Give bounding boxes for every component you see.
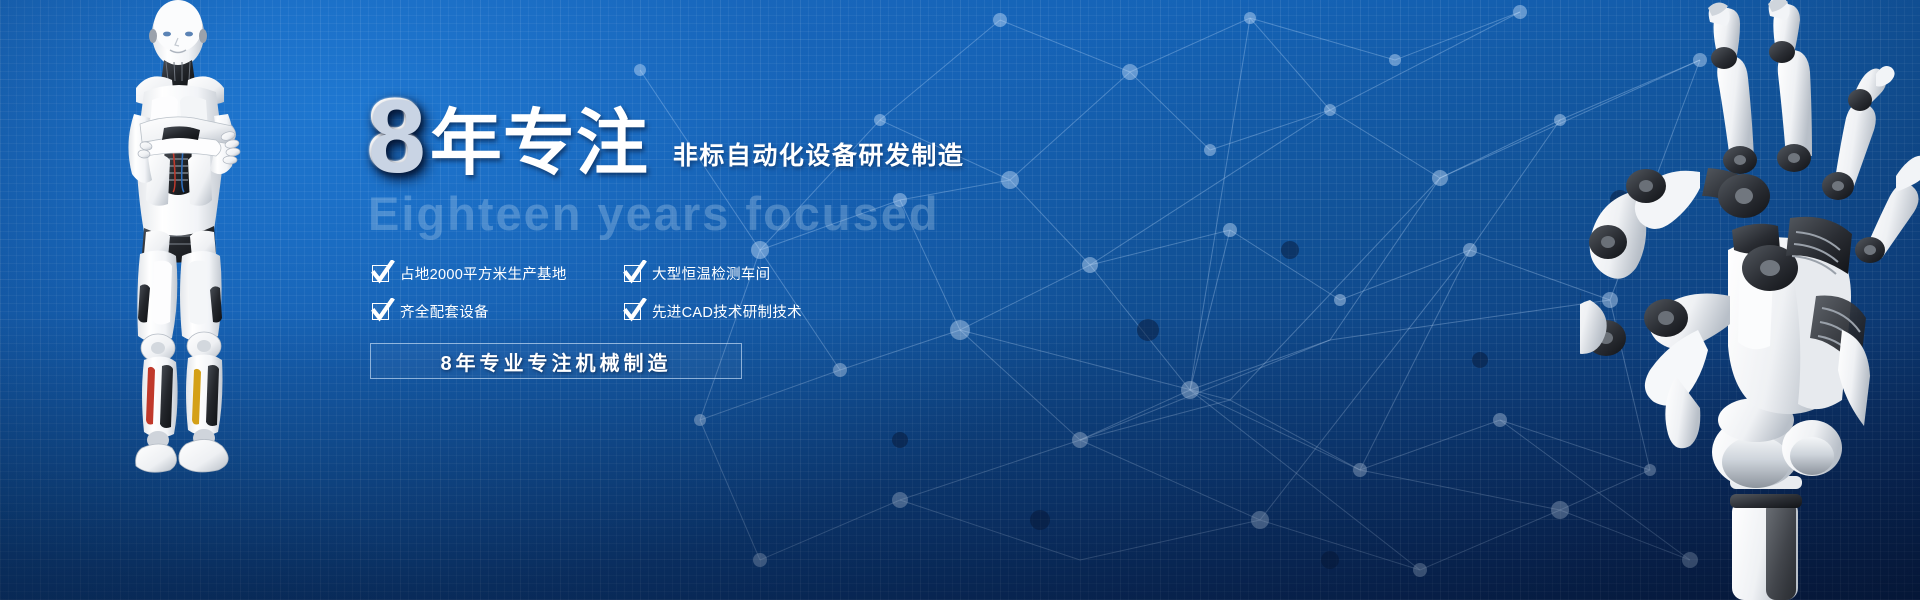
promo-banner: 8 年专注 非标自动化设备研发制造 Eighteen years focused… — [0, 0, 1920, 600]
check-icon — [624, 265, 641, 282]
check-icon — [372, 265, 389, 282]
headline: 8 年专注 非标自动化设备研发制造 — [366, 92, 1126, 184]
check-icon — [372, 303, 389, 320]
feature-item: 齐全配套设备 — [372, 301, 624, 322]
feature-label: 先进CAD技术研制技术 — [652, 301, 802, 322]
headline-chinese: 年专注 — [430, 108, 649, 180]
feature-item: 先进CAD技术研制技术 — [624, 301, 884, 322]
cta-button[interactable]: 8年专业专注机械制造 — [370, 343, 742, 379]
feature-item: 占地2000平方米生产基地 — [372, 263, 624, 284]
check-icon — [624, 303, 641, 320]
cta-label: 8年专业专注机械制造 — [440, 347, 671, 376]
feature-item: 大型恒温检测车间 — [624, 263, 884, 284]
feature-list: 占地2000平方米生产基地 大型恒温检测车间 齐全配套设备 — [372, 263, 1126, 322]
feature-label: 占地2000平方米生产基地 — [400, 263, 567, 284]
robotic-hand-figure — [1580, 0, 1920, 600]
feature-label: 齐全配套设备 — [400, 301, 489, 322]
humanoid-robot-figure — [78, 0, 298, 596]
headline-number: 8 — [366, 88, 430, 184]
ghost-english-text: Eighteen years focused — [368, 186, 1126, 241]
headline-subtitle: 非标自动化设备研发制造 — [673, 136, 965, 172]
feature-label: 大型恒温检测车间 — [652, 263, 770, 284]
banner-content: 8 年专注 非标自动化设备研发制造 Eighteen years focused… — [366, 92, 1126, 379]
